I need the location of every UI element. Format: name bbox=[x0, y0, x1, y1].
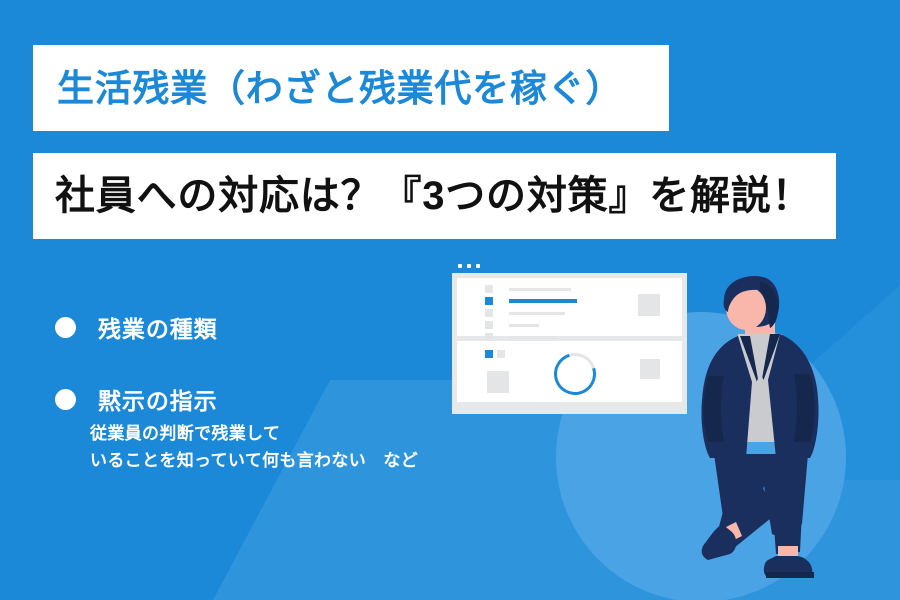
window-body bbox=[452, 273, 687, 407]
table-row bbox=[485, 321, 682, 329]
window-dot-icon bbox=[458, 264, 462, 268]
table-row bbox=[485, 285, 682, 293]
bottom-panel-thumbnail-left bbox=[487, 371, 509, 393]
businessman-illustration bbox=[690, 272, 870, 592]
row-marker-icon bbox=[485, 285, 493, 293]
bullet-label: 残業の種類 bbox=[98, 310, 218, 344]
chip-group bbox=[485, 350, 505, 358]
headline-secondary-text: 社員への対応は？『3つの対策』を解説！ bbox=[55, 176, 812, 216]
bullet-label: 黙示の指示 bbox=[98, 382, 218, 416]
window-dot-icon bbox=[467, 264, 471, 268]
row-marker-icon bbox=[485, 321, 493, 329]
row-marker-icon bbox=[485, 297, 493, 305]
chip-icon bbox=[485, 350, 493, 358]
bullet-dot-icon bbox=[55, 389, 76, 410]
row-line bbox=[509, 299, 577, 303]
banner-root: 生活残業（わざと残業代を稼ぐ） 社員への対応は？『3つの対策』を解説！ 残業の種… bbox=[0, 0, 900, 600]
bottom-panel-thumbnail-right bbox=[640, 359, 660, 379]
table-row bbox=[485, 333, 682, 341]
window-dot-icon bbox=[476, 264, 480, 268]
headline-box-secondary: 社員への対応は？『3つの対策』を解説！ bbox=[33, 153, 836, 239]
row-line bbox=[509, 336, 557, 339]
top-panel-thumbnail bbox=[638, 294, 660, 316]
row-line bbox=[509, 288, 571, 291]
headline-primary-text: 生活残業（わざと残業代を稼ぐ） bbox=[57, 70, 623, 107]
dashboard-window-illustration bbox=[452, 259, 687, 414]
donut-chart bbox=[547, 346, 604, 403]
bullet-dot-icon bbox=[55, 317, 76, 338]
list-item: 黙示の指示 bbox=[55, 382, 455, 416]
window-top-panel bbox=[457, 278, 682, 336]
row-line bbox=[509, 312, 565, 315]
chip-icon bbox=[497, 350, 505, 358]
list-item: 残業の種類 bbox=[55, 310, 455, 344]
headline-box-primary: 生活残業（わざと残業代を稼ぐ） bbox=[33, 45, 669, 131]
window-titlebar bbox=[452, 259, 687, 273]
row-line bbox=[509, 324, 539, 327]
window-bottom-panel bbox=[457, 341, 682, 402]
row-marker-icon bbox=[485, 309, 493, 317]
row-marker-icon bbox=[485, 333, 493, 341]
sub-note-text: 従業員の判断で残業して いることを知っていて何も言わない など bbox=[90, 420, 418, 474]
